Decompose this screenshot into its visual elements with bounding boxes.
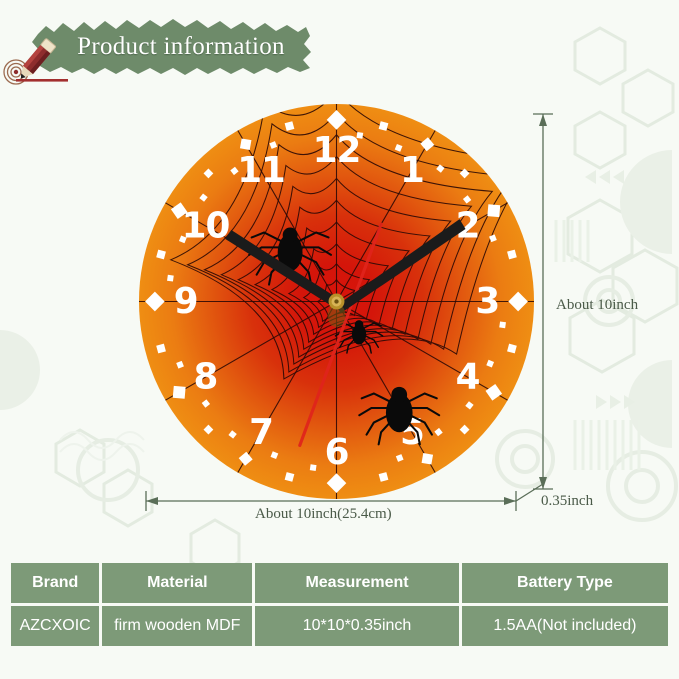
clock-numeral-3: 3: [475, 281, 499, 322]
spec-header-material: Material: [102, 563, 252, 603]
clock-numeral-1: 1: [400, 150, 424, 191]
clock-center-hub: [328, 294, 346, 328]
width-dimension-label: About 10inch(25.4cm): [255, 506, 392, 523]
product-image-area: 12 1 2 3 4 5 6 7 8 9 10 11: [0, 0, 679, 560]
clock-numeral-4: 4: [456, 356, 480, 397]
spec-value-material: firm wooden MDF: [102, 606, 252, 646]
spec-table-header-row: Brand Material Measurement Battery Type: [11, 563, 668, 603]
clock-numeral-9: 9: [174, 281, 198, 322]
clock-numeral-10: 10: [182, 206, 230, 247]
thickness-dimension-label: 0.35inch: [541, 493, 593, 510]
spec-value-measurement: 10*10*0.35inch: [255, 606, 459, 646]
clock-numeral-11: 11: [237, 150, 285, 191]
spider-web-wall-clock: 12 1 2 3 4 5 6 7 8 9 10 11: [138, 103, 535, 500]
clock-numeral-6: 6: [325, 432, 349, 473]
spec-value-battery: 1.5AA(Not included): [462, 606, 668, 646]
clock-numeral-7: 7: [249, 412, 273, 453]
spec-value-brand: AZCXOIC: [11, 606, 99, 646]
height-dimension-label: About 10inch: [556, 297, 638, 314]
spec-header-measurement: Measurement: [255, 563, 459, 603]
spec-table-value-row: AZCXOIC firm wooden MDF 10*10*0.35inch 1…: [11, 606, 668, 646]
spec-header-brand: Brand: [11, 563, 99, 603]
spec-header-battery: Battery Type: [462, 563, 668, 603]
clock-numeral-8: 8: [194, 356, 218, 397]
clock-numeral-12: 12: [313, 130, 361, 171]
spec-table: Brand Material Measurement Battery Type …: [11, 563, 668, 646]
